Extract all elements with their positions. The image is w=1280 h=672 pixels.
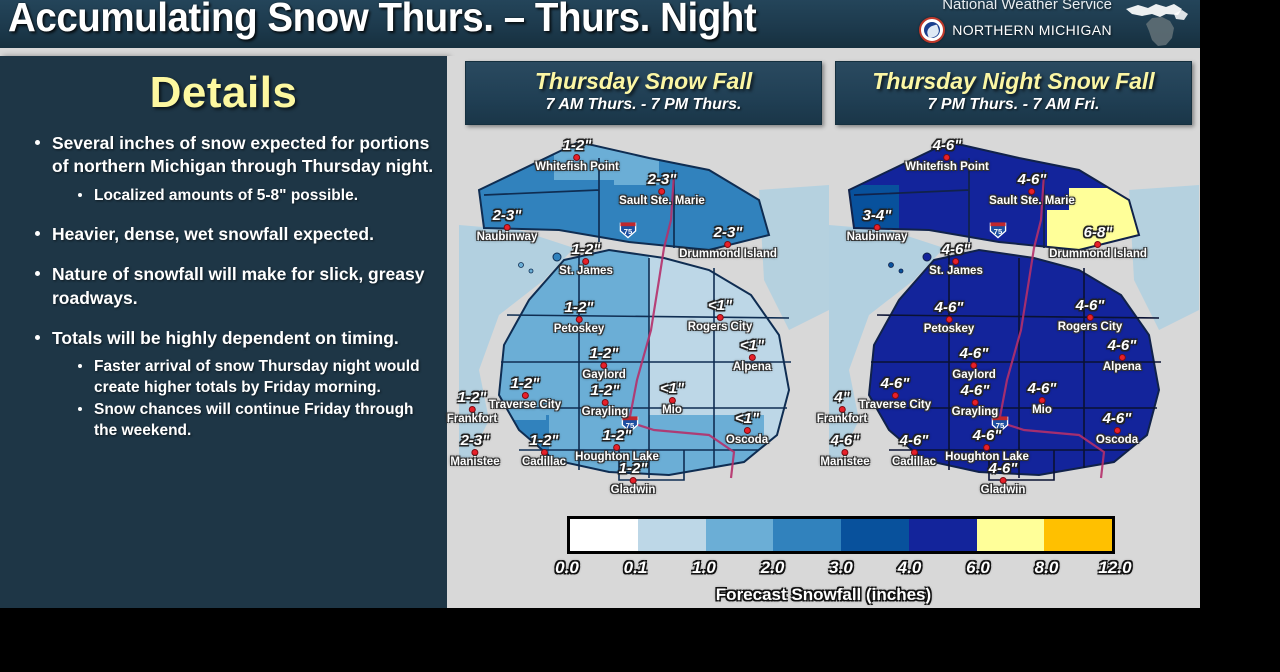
city-marker-icon [999,477,1006,484]
bullet-dot-icon [78,364,82,368]
snowfall-amount: 1-2" [522,433,566,448]
city-name: Naubinway [847,232,908,244]
interstate-75-shield-icon: 75 [619,221,638,240]
city-label: 3-4"Naubinway [847,208,908,244]
city-name: Frankfort [447,414,497,426]
city-marker-icon [910,449,917,456]
city-name: Frankfort [817,414,867,426]
snowfall-amount: 4-6" [1103,338,1141,353]
details-bullet-list: Several inches of snow expected for port… [12,132,435,442]
sub-bullet-text: Localized amounts of 5-8" possible. [94,187,358,204]
snowfall-amount: 4-6" [859,376,931,391]
list-item: Snow chances will continue Friday throug… [52,400,435,441]
city-name: St. James [559,266,613,278]
snowfall-amount: 6-8" [1049,225,1147,240]
city-marker-icon [601,362,608,369]
city-label: 4-6"St. James [929,242,983,278]
list-item: Localized amounts of 5-8" possible. [52,186,435,207]
list-item: Several inches of snow expected for port… [12,132,435,206]
map-subtitle-text: 7 AM Thurs. - 7 PM Thurs. [466,96,821,114]
city-name: Gaylord [582,370,625,382]
legend-band [570,519,638,551]
snowfall-amount: 1-2" [582,383,629,398]
city-marker-icon [716,314,723,321]
city-marker-icon [582,258,589,265]
nws-branding: National Weather Service NORTHERN MICHIG… [884,0,1114,48]
city-name: Manistee [820,457,869,469]
snowfall-amount: 1-2" [535,138,619,153]
bullet-text: Totals will be highly dependent on timin… [52,328,399,348]
sub-bullet-text: Faster arrival of snow Thursday night wo… [94,358,420,396]
maps-area: Thursday Snow Fall 7 AM Thurs. - 7 PM Th… [447,56,1200,608]
city-label: 4-6"Mio [1028,381,1057,417]
legend-band [977,519,1045,551]
city-marker-icon [944,154,951,161]
header-bar: Accumulating Snow Thurs. – Thurs. Night … [0,0,1200,48]
city-marker-icon [472,449,479,456]
city-label: 2-3"Sault Ste. Marie [619,172,705,208]
snowfall-amount: 4-6" [1058,298,1123,313]
city-label: 1-2"Frankfort [447,390,497,426]
interstate-75-shield-icon: 75 [989,221,1008,240]
agency-name: National Weather Service [942,0,1112,13]
city-name: Gladwin [611,485,656,497]
bullet-text: Nature of snowfall will make for slick, … [52,264,425,307]
svg-text:75: 75 [994,227,1003,236]
city-marker-icon [945,316,952,323]
city-name: Gaylord [952,370,995,382]
legend-band [909,519,977,551]
map-title-thursday: Thursday Snow Fall 7 AM Thurs. - 7 PM Th… [465,61,822,125]
city-name: Rogers City [1058,322,1123,334]
city-label: <1"Alpena [733,338,771,374]
snowfall-amount: 4-6" [981,461,1026,476]
city-label: 1-2"Cadillac [522,433,566,469]
city-label: 4-6"Traverse City [859,376,931,412]
city-marker-icon [842,449,849,456]
city-label: 4"Frankfort [817,390,867,426]
city-name: Mio [1028,405,1057,417]
bullet-text: Several inches of snow expected for port… [52,133,433,176]
legend-band [841,519,909,551]
city-name: Petoskey [554,324,605,336]
city-label: 2-3"Naubinway [477,208,538,244]
bullet-dot-icon [78,407,82,411]
snowfall-map-thursday[interactable]: 75 75 1-2"Whitefish Point2-3"Sault Ste. … [459,130,829,500]
list-item: Totals will be highly dependent on timin… [12,327,435,442]
city-label: 1-2"Whitefish Point [535,138,619,174]
snowfall-amount: 4-6" [892,433,936,448]
city-name: Rogers City [688,322,753,334]
sub-bullet-list: Faster arrival of snow Thursday night wo… [52,357,435,441]
map-title-text: Thursday Snow Fall [466,68,821,94]
city-name: Whitefish Point [535,162,619,174]
city-name: Drummond Island [679,249,777,261]
city-labels: 75 75 4-6"Whitefish Point4-6"Sault Ste. … [829,130,1199,500]
city-name: Whitefish Point [905,162,989,174]
legend-tick-label: 1.0 [692,558,716,578]
city-label: 1-2"Gaylord [582,346,625,382]
city-label: 4-6"Alpena [1103,338,1141,374]
snowfall-amount: 1-2" [559,242,613,257]
city-marker-icon [540,449,547,456]
office-name: NORTHERN MICHIGAN [952,22,1112,38]
city-label: 1-2"Grayling [582,383,629,419]
city-label: 4-6"Houghton Lake [945,428,1029,464]
city-label: 4-6"Oscoda [1096,411,1138,447]
city-name: Traverse City [489,400,561,412]
legend-tick-label: 8.0 [1035,558,1059,578]
city-label: 4-6"Sault Ste. Marie [989,172,1075,208]
snowfall-amount: 4-6" [924,300,975,315]
legend-tick-label: 0.1 [624,558,648,578]
sub-bullet-list: Localized amounts of 5-8" possible. [52,186,435,207]
city-marker-icon [744,427,751,434]
legend-tick-label: 2.0 [761,558,785,578]
graphic-canvas: Accumulating Snow Thurs. – Thurs. Night … [0,0,1200,608]
city-label: 4-6"Gaylord [952,346,995,382]
legend-tick-label: 12.0 [1098,558,1131,578]
city-label: 1-2"Petoskey [554,300,605,336]
city-label: 2-3"Drummond Island [679,225,777,261]
city-label: 6-8"Drummond Island [1049,225,1147,261]
city-name: Alpena [733,362,771,374]
bullet-dot-icon [35,335,40,340]
city-name: Gladwin [981,485,1026,497]
city-label: 1-2"Traverse City [489,376,561,412]
map-title-text: Thursday Night Snow Fall [836,68,1191,94]
city-marker-icon [504,224,511,231]
city-label: <1"Mio [660,381,684,417]
details-panel: Details Several inches of snow expected … [0,56,447,608]
snowfall-map-thursday-night[interactable]: 75 75 4-6"Whitefish Point4-6"Sault Ste. … [829,130,1199,500]
legend-band [1044,519,1112,551]
bullet-text: Heavier, dense, wet snowfall expected. [52,224,374,244]
color-scale-bar [567,516,1115,554]
city-name: Sault Ste. Marie [989,196,1075,208]
snowfall-amount: 2-3" [477,208,538,223]
snowfall-amount: 4-6" [952,383,999,398]
city-label: <1"Oscoda [726,411,768,447]
city-marker-icon [874,224,881,231]
legend: 0.00.11.02.03.04.06.08.012.0 Forecast Sn… [447,508,1200,608]
city-marker-icon [468,406,475,413]
city-label: 4-6"Manistee [820,433,869,469]
legend-tick-label: 0.0 [555,558,579,578]
snowfall-amount: 4-6" [820,433,869,448]
city-marker-icon [749,354,756,361]
city-name: St. James [929,266,983,278]
details-heading: Details [12,68,435,118]
snowfall-amount: 2-3" [450,433,499,448]
city-name: Naubinway [477,232,538,244]
city-label: 4-6"Rogers City [1058,298,1123,334]
city-marker-icon [983,444,990,451]
bullet-dot-icon [78,193,82,197]
snowfall-amount: 4-6" [1028,381,1057,396]
city-label: 2-3"Manistee [450,433,499,469]
city-name: Grayling [952,407,999,419]
city-marker-icon [1086,314,1093,321]
bullet-dot-icon [35,231,40,236]
city-marker-icon [724,241,731,248]
city-marker-icon [952,258,959,265]
city-marker-icon [669,397,676,404]
snowfall-amount: 1-2" [582,346,625,361]
snowfall-amount: 4-6" [952,346,995,361]
city-name: Cadillac [522,457,566,469]
city-name: Cadillac [892,457,936,469]
city-label: 1-2"Houghton Lake [575,428,659,464]
snowfall-amount: <1" [688,298,753,313]
legend-tick-label: 6.0 [966,558,990,578]
svg-text:75: 75 [624,227,633,236]
city-name: Petoskey [924,324,975,336]
color-scale-ticks: 0.00.11.02.03.04.06.08.012.0 [567,558,1115,580]
city-marker-icon [1114,427,1121,434]
city-label: 4-6"Cadillac [892,433,936,469]
snowfall-amount: 4-6" [945,428,1029,443]
snowfall-amount: 4-6" [905,138,989,153]
city-marker-icon [1119,354,1126,361]
city-marker-icon [972,399,979,406]
city-marker-icon [1028,188,1035,195]
snowfall-amount: 4-6" [929,242,983,257]
city-labels: 75 75 1-2"Whitefish Point2-3"Sault Ste. … [459,130,829,500]
snowfall-amount: 1-2" [447,390,497,405]
legend-band [638,519,706,551]
city-marker-icon [658,188,665,195]
bullet-dot-icon [35,140,40,145]
city-name: Oscoda [726,435,768,447]
city-marker-icon [971,362,978,369]
bullet-dot-icon [35,271,40,276]
legend-band [706,519,774,551]
list-item: Nature of snowfall will make for slick, … [12,263,435,310]
snowfall-amount: 1-2" [489,376,561,391]
city-marker-icon [575,316,582,323]
list-item: Faster arrival of snow Thursday night wo… [52,357,435,398]
legend-tick-label: 4.0 [898,558,922,578]
city-name: Mio [660,405,684,417]
snowfall-amount: <1" [726,411,768,426]
city-label: 4-6"Grayling [952,383,999,419]
snowfall-amount: 1-2" [554,300,605,315]
city-marker-icon [838,406,845,413]
city-name: Alpena [1103,362,1141,374]
list-item: Heavier, dense, wet snowfall expected. [12,223,435,246]
snowfall-amount: 1-2" [575,428,659,443]
city-name: Manistee [450,457,499,469]
snowfall-amount: 3-4" [847,208,908,223]
snowfall-amount: 2-3" [619,172,705,187]
snowfall-amount: 1-2" [611,461,656,476]
page-title: Accumulating Snow Thurs. – Thurs. Night [8,0,756,41]
map-title-thursday-night: Thursday Night Snow Fall 7 PM Thurs. - 7… [835,61,1192,125]
legend-caption: Forecast Snowfall (inches) [447,585,1200,605]
city-name: Drummond Island [1049,249,1147,261]
city-label: <1"Rogers City [688,298,753,334]
snowfall-amount: <1" [660,381,684,396]
legend-band [773,519,841,551]
map-subtitle-text: 7 PM Thurs. - 7 AM Fri. [836,96,1191,114]
city-marker-icon [1038,397,1045,404]
city-label: 1-2"St. James [559,242,613,278]
snowfall-amount: 4" [817,390,867,405]
snowfall-amount: 2-3" [679,225,777,240]
sub-bullet-text: Snow chances will continue Friday throug… [94,401,414,439]
city-name: Traverse City [859,400,931,412]
city-name: Sault Ste. Marie [619,196,705,208]
city-name: Oscoda [1096,435,1138,447]
city-name: Grayling [582,407,629,419]
city-marker-icon [522,392,529,399]
city-marker-icon [602,399,609,406]
city-label: 4-6"Petoskey [924,300,975,336]
snowfall-amount: 4-6" [1096,411,1138,426]
michigan-outline-icon [1122,0,1194,48]
city-label: 1-2"Gladwin [611,461,656,497]
city-marker-icon [629,477,636,484]
snowfall-amount: 4-6" [989,172,1075,187]
nws-seal-icon [919,17,945,43]
city-marker-icon [892,392,899,399]
city-marker-icon [1094,241,1101,248]
city-label: 4-6"Whitefish Point [905,138,989,174]
city-marker-icon [574,154,581,161]
snowfall-amount: <1" [733,338,771,353]
legend-tick-label: 3.0 [829,558,853,578]
city-label: 4-6"Gladwin [981,461,1026,497]
city-marker-icon [613,444,620,451]
